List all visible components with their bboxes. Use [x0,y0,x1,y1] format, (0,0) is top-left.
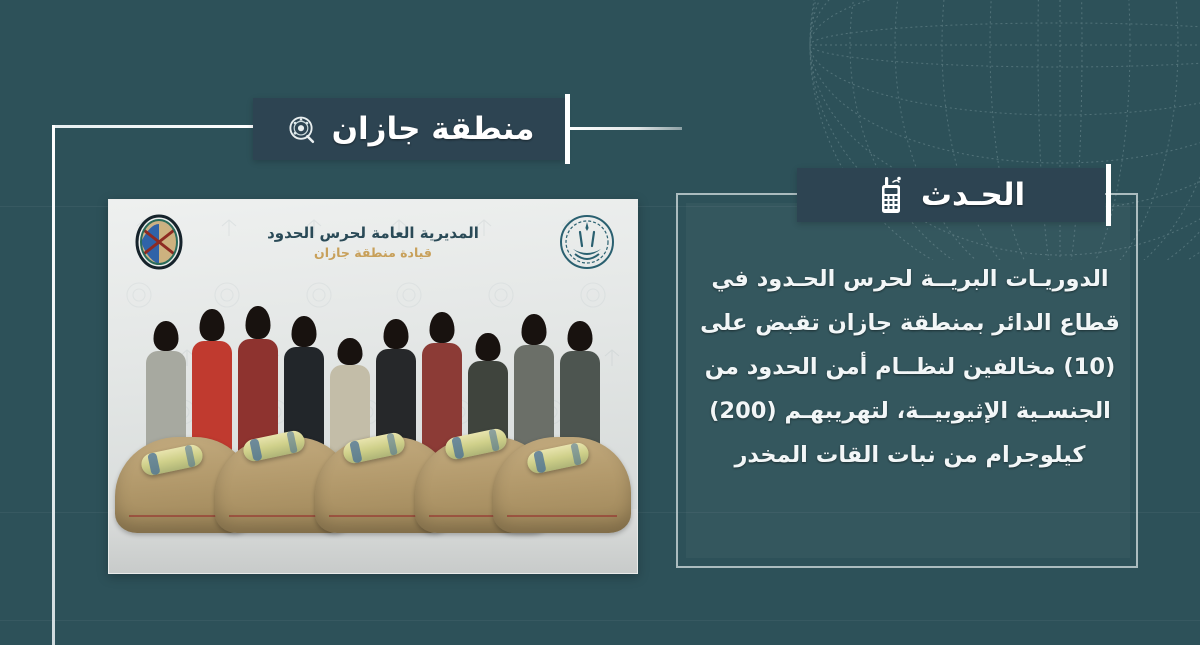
event-body-line: (10) مخالفين لنظــام أمن الحدود من [700,346,1120,390]
event-title-label: الحـدث [921,177,1025,213]
photo-banner-text: المديرية العامة لحرس الحدود قيادة منطقة … [187,223,559,262]
walkie-talkie-icon [877,175,905,215]
photo-banner-line2: قيادة منطقة جازان [193,245,553,261]
seized-sacks-group [115,415,631,533]
incident-photo: المديرية العامة لحرس الحدود قيادة منطقة … [108,199,638,574]
photo-banner-line1: المديرية العامة لحرس الحدود [267,224,479,242]
border-guard-emblem-icon [284,112,318,146]
border-guard-crest-icon [131,211,187,273]
frame-top-rule [52,125,257,128]
photo-banner: المديرية العامة لحرس الحدود قيادة منطقة … [109,200,637,278]
event-title-chip: الحـدث [797,168,1105,222]
event-body-line: قطاع الدائر بمنطقة جازان تقبض على [700,302,1120,346]
frame-left-rule [52,125,55,645]
bg-band [0,620,1200,621]
news-card-stage: منطقة جازان [0,0,1200,645]
region-title-label: منطقة جازان [332,114,535,145]
event-body-line: الدوريـات البريــة لحرس الحـدود في [700,258,1120,302]
event-body-text: الدوريـات البريــة لحرس الحـدود في قطاع … [700,258,1120,477]
event-chip-end-bar [1106,164,1111,226]
region-chip-rule [570,127,682,130]
saudi-emblem-icon [559,211,615,273]
event-body-line: الجنسـية الإثيوبيــة، لتهريبهـم (200) [700,390,1120,434]
region-title-chip: منطقة جازان [253,98,565,160]
event-body-line: كيلوجرام من نبات القات المخدر [700,434,1120,478]
